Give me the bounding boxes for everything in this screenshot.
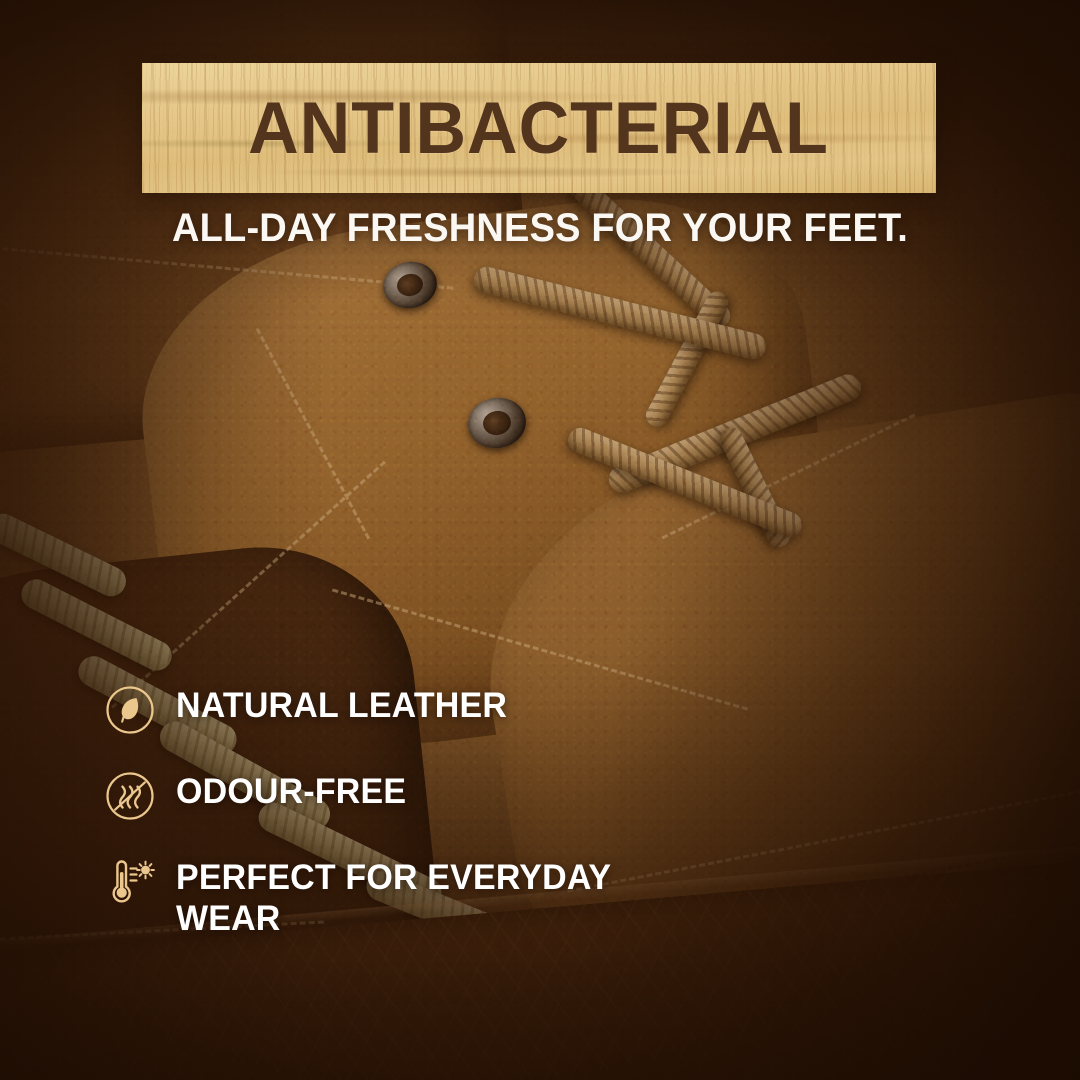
feature-label: ODOUR-FREE (176, 772, 406, 813)
feature-item-natural-leather: NATURAL LEATHER (104, 686, 804, 736)
wood-plank-banner: ANTIBACTERIAL (142, 63, 936, 193)
odour-free-icon (104, 770, 156, 822)
feature-label: NATURAL LEATHER (176, 686, 507, 727)
feature-item-everyday-wear: PERFECT FOR EVERYDAY WEAR (104, 858, 804, 939)
feature-label: PERFECT FOR EVERYDAY WEAR (176, 858, 680, 939)
thermometer-sun-icon (104, 856, 156, 908)
feature-list: NATURAL LEATHER ODOUR-FREE (104, 686, 804, 939)
headline-subtitle: ALL-DAY FRESHNESS FOR YOUR FEET. (27, 206, 1053, 251)
ad-canvas: ANTIBACTERIAL ALL-DAY FRESHNESS FOR YOUR… (0, 0, 1080, 1080)
headline-title: ANTIBACTERIAL (249, 92, 830, 165)
feature-item-odour-free: ODOUR-FREE (104, 772, 804, 822)
leaf-icon (104, 684, 156, 736)
